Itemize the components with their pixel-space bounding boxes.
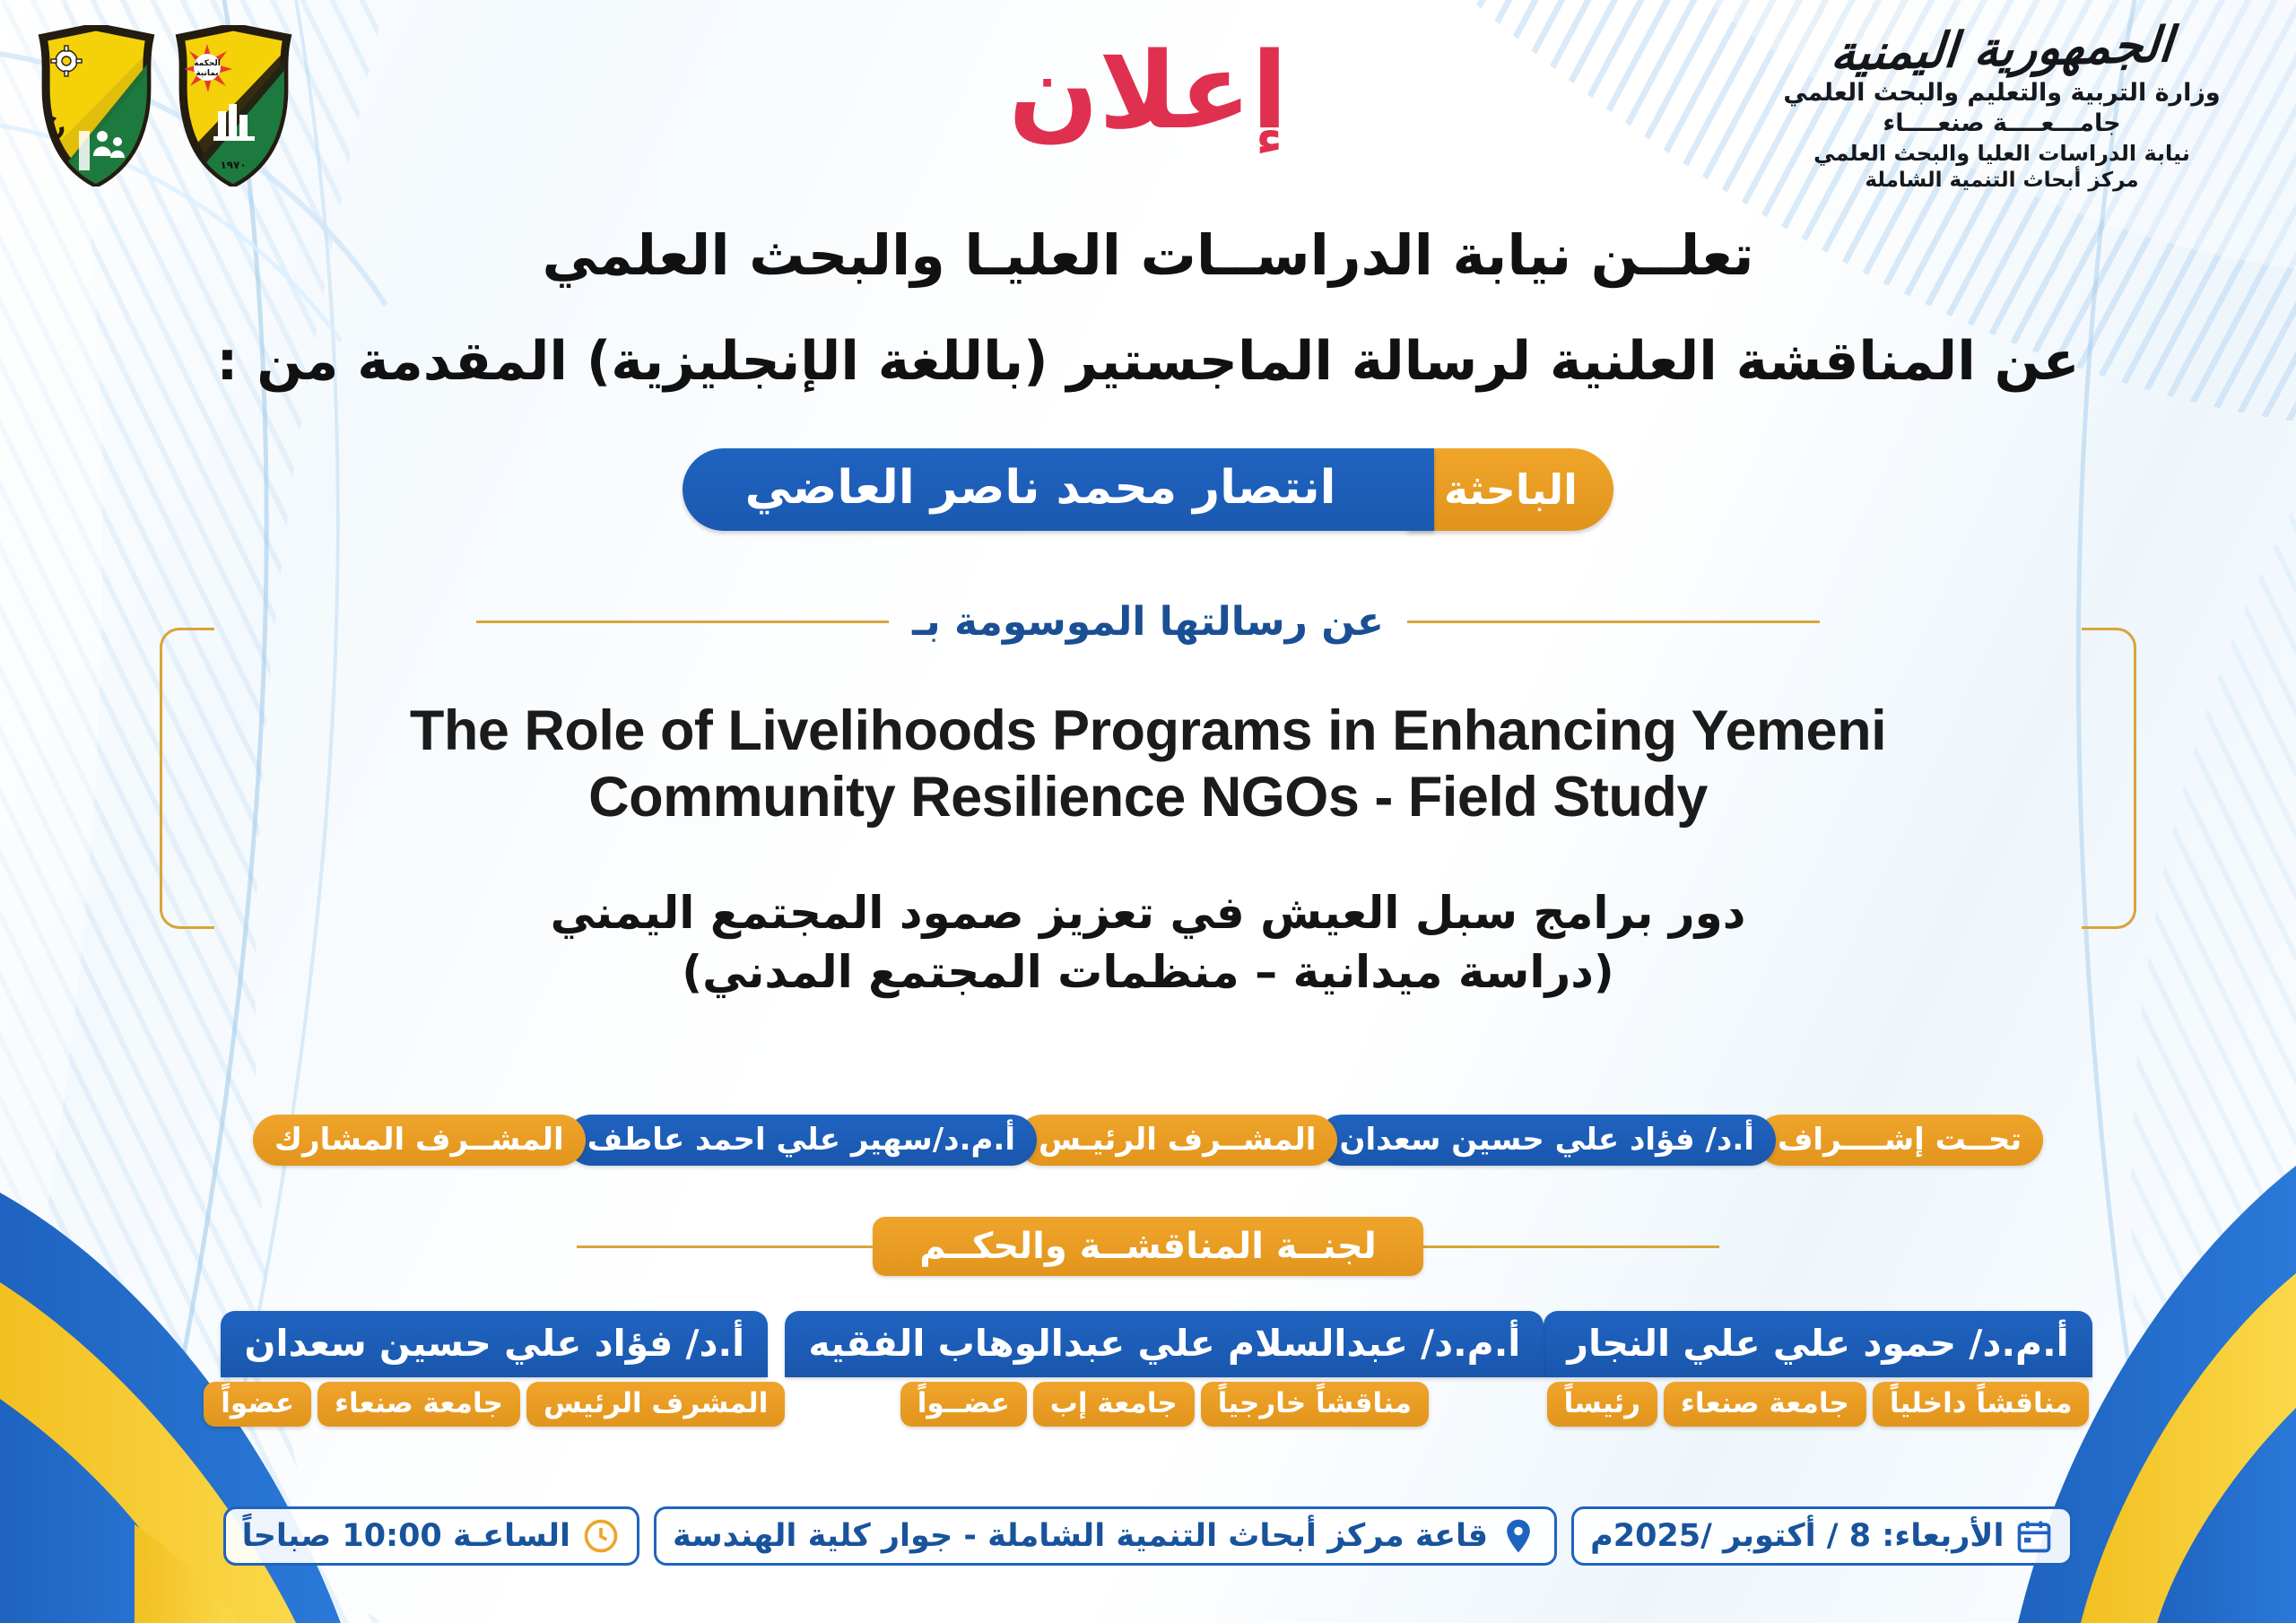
ministry-line-1: وزارة التربية والتعليم والبحث العلمي xyxy=(1751,78,2253,109)
svg-text:١٩٧٠: ١٩٧٠ xyxy=(220,159,246,171)
researcher-name: انتصار محمد ناصر العاضي xyxy=(683,448,1435,531)
supervisor-2-role: المشــرف المشارك xyxy=(253,1115,586,1166)
calendar-icon xyxy=(2014,1516,2054,1556)
member-1-name: أ.م.د/ حمود علي علي النجار xyxy=(1544,1311,2092,1377)
thesis-title-ar-line-2: (دراسة ميدانية – منظمات المجتمع المدني) xyxy=(0,942,2296,1002)
ministry-line-3: نيابة الدراسات العليا والبحث العلمي xyxy=(1751,140,2253,168)
thesis-title-en-line-1: The Role of Livelihoods Programs in Enha… xyxy=(0,698,2296,764)
committee-header: لجنــة المناقشــة والحكــم xyxy=(0,1217,2296,1276)
committee-members: أ.م.د/ حمود علي علي النجار مناقشاً داخلي… xyxy=(0,1311,2296,1427)
ministry-block: الجمهورية اليمنية وزارة التربية والتعليم… xyxy=(1751,23,2253,194)
event-date-box: الأربعاء: 8 / أكتوبر /2025م xyxy=(1571,1506,2073,1566)
member-2-name: أ.م.د/ عبدالسلام علي عبدالوهاب الفقيه xyxy=(785,1311,1544,1377)
ministry-line-4: مركز أبحاث التنمية الشاملة xyxy=(1751,168,2253,194)
ministry-line-2: جامـــعــــة صنعــــاء xyxy=(1751,108,2253,140)
supervision-row: تحــت إشــــراف أ.د/ فؤاد علي حسين سعدان… xyxy=(0,1115,2296,1166)
event-time: الساعـة 10:00 صباحاً xyxy=(242,1518,570,1554)
announcement-line-1: تعلــن نيابة الدراســات العليـا والبحث ا… xyxy=(0,222,2296,288)
thesis-title-english: The Role of Livelihoods Programs in Enha… xyxy=(0,698,2296,831)
event-venue: قاعة مركز أبحاث التنمية الشاملة - جوار ك… xyxy=(673,1518,1488,1554)
thesis-intro: عن رسالتها الموسومة بـ xyxy=(0,599,2296,645)
event-date: الأربعاء: 8 / أكتوبر /2025م xyxy=(1590,1518,2004,1554)
member-3-name: أ.د/ فؤاد علي حسين سعدان xyxy=(221,1311,768,1377)
announcement-poster: الحكمة يمانية جامعة صنعاء ١٩٧٠ xyxy=(0,0,2296,1623)
thesis-intro-label: عن رسالتها الموسومة بـ xyxy=(889,599,1407,645)
republic-name: الجمهورية اليمنية xyxy=(1748,17,2256,81)
member-2-capacity: مناقشاً خارجياً xyxy=(1201,1382,1429,1427)
member-1-capacity: مناقشاً داخلياً xyxy=(1873,1382,2090,1427)
member-2-role: عضــواً xyxy=(900,1382,1027,1427)
thesis-title-ar-line-1: دور برامج سبل العيش في تعزيز صمود المجتم… xyxy=(0,883,2296,942)
member-3-role-sup: المشرف الرئيس xyxy=(526,1382,785,1427)
supervisor-1-name: أ.د/ فؤاد علي حسين سعدان xyxy=(1318,1115,1776,1166)
member-3-affiliation: جامعة صنعاء xyxy=(317,1382,520,1427)
clock-icon xyxy=(581,1516,621,1556)
committee-member: أ.د/ فؤاد علي حسين سعدان المشرف الرئيس ج… xyxy=(204,1311,785,1427)
thesis-title-en-line-2: Community Resilience NGOs - Field Study xyxy=(0,764,2296,830)
supervisor-2-name: أ.م.د/سهير علي احمد عاطف xyxy=(566,1115,1037,1166)
event-venue-box: قاعة مركز أبحاث التنمية الشاملة - جوار ك… xyxy=(654,1506,1557,1566)
member-1-role: رئيساً xyxy=(1547,1382,1657,1427)
committee-divider-right xyxy=(577,1245,873,1248)
member-2-affiliation: جامعة إب xyxy=(1033,1382,1195,1427)
supervisor-1-role: المشــرف الرئيـس xyxy=(1017,1115,1337,1166)
event-time-box: الساعـة 10:00 صباحاً xyxy=(223,1506,639,1566)
committee-label: لجنــة المناقشــة والحكــم xyxy=(873,1217,1422,1276)
committee-divider-left xyxy=(1423,1245,1719,1248)
divider-line-right xyxy=(476,621,889,623)
location-pin-icon xyxy=(1499,1516,1538,1556)
researcher-role-label: الباحثة xyxy=(1407,448,1613,531)
researcher-banner: الباحثة انتصار محمد ناصر العاضي xyxy=(0,448,2296,531)
member-1-affiliation: جامعة صنعاء xyxy=(1664,1382,1866,1427)
announcement-line-2: عن المناقشة العلنية لرسالة الماجستير (با… xyxy=(0,330,2296,393)
member-3-role: عضواً xyxy=(204,1382,311,1427)
divider-line-left xyxy=(1407,621,1820,623)
thesis-title-arabic: دور برامج سبل العيش في تعزيز صمود المجتم… xyxy=(0,883,2296,1002)
supervision-label: تحــت إشــــراف xyxy=(1756,1115,2043,1166)
event-footer: الأربعاء: 8 / أكتوبر /2025م قاعة مركز أب… xyxy=(0,1506,2296,1566)
committee-member: أ.م.د/ حمود علي علي النجار مناقشاً داخلي… xyxy=(1544,1311,2092,1427)
committee-member: أ.م.د/ عبدالسلام علي عبدالوهاب الفقيه من… xyxy=(785,1311,1544,1427)
